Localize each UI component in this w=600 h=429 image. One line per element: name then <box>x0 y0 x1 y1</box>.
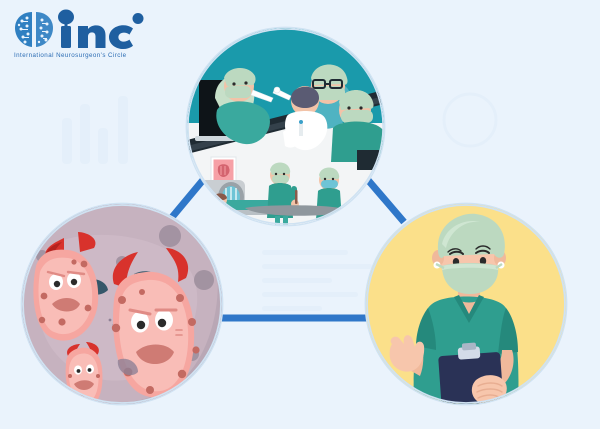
infographic-canvas: International Neurosurgeon's Circle <box>0 0 600 429</box>
connector-top-to-left <box>168 180 203 222</box>
nurse-illustration <box>366 204 566 404</box>
node-tumor-cells[interactable] <box>22 204 222 404</box>
tumor-cells-illustration <box>22 204 222 404</box>
node-medical-staff[interactable] <box>366 204 566 404</box>
brain-scan-on-wall <box>211 157 236 184</box>
node-operating-room[interactable] <box>187 28 384 225</box>
operating-room-illustration <box>187 28 384 225</box>
connector-top-to-right <box>368 180 404 222</box>
